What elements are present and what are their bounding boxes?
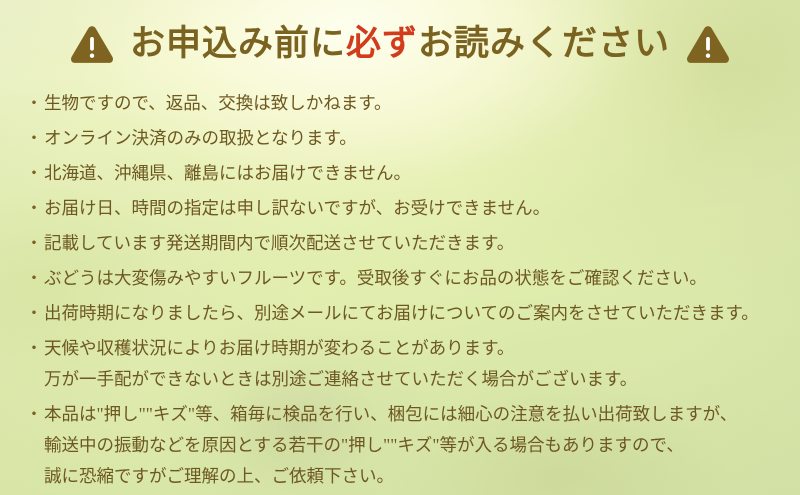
- bullet-icon: ・: [24, 158, 44, 189]
- list-item-line: 万が一手配ができないときは別途ご連絡させていただく場合がございます。: [44, 364, 788, 395]
- warning-triangle-icon: [686, 24, 730, 64]
- bullet-icon: ・: [24, 88, 44, 119]
- list-item: ・オンライン決済のみの取扱となります。: [24, 123, 788, 154]
- list-item-text: ぶどうは大変傷みやすいフルーツです。受取後すぐにお品の状態をご確認ください。: [44, 263, 788, 294]
- list-item-line: 誠に恐縮ですがご理解の上、ご依頼下さい。: [44, 461, 788, 492]
- list-item: ・本品は"押し""キズ"等、箱毎に検品を行い、梱包には細心の注意を払い出荷致しま…: [24, 399, 788, 492]
- list-item-text: オンライン決済のみの取扱となります。: [44, 123, 788, 154]
- list-item-text: 北海道、沖縄県、離島にはお届けできません。: [44, 158, 788, 189]
- banner-heading: お申込み前に必ずお読みください: [0, 24, 800, 64]
- list-item-line: 生物ですので、返品、交換は致しかねます。: [44, 88, 788, 119]
- list-item-line: 輸送中の振動などを原因とする若干の"押し""キズ"等が入る場合もありますので、: [44, 430, 788, 461]
- list-item-line: オンライン決済のみの取扱となります。: [44, 123, 788, 154]
- bullet-icon: ・: [24, 263, 44, 294]
- list-item-line: 本品は"押し""キズ"等、箱毎に検品を行い、梱包には細心の注意を払い出荷致します…: [44, 399, 788, 430]
- list-item-line: 出荷時期になりましたら、別途メールにてお届けについてのご案内をさせていただきます…: [44, 298, 788, 329]
- list-item-text: 生物ですので、返品、交換は致しかねます。: [44, 88, 788, 119]
- bullet-icon: ・: [24, 228, 44, 259]
- list-item-line: お届け日、時間の指定は申し訳ないですが、お受けできません。: [44, 193, 788, 224]
- list-item-text: 記載しています発送期間内で順次配送させていただきます。: [44, 228, 788, 259]
- list-item: ・北海道、沖縄県、離島にはお届けできません。: [24, 158, 788, 189]
- notice-list: ・生物ですので、返品、交換は致しかねます。・オンライン決済のみの取扱となります。…: [24, 88, 788, 495]
- list-item-text: 本品は"押し""キズ"等、箱毎に検品を行い、梱包には細心の注意を払い出荷致します…: [44, 399, 788, 492]
- list-item: ・お届け日、時間の指定は申し訳ないですが、お受けできません。: [24, 193, 788, 224]
- banner-content: お申込み前に必ずお読みください ・生物ですので、返品、交換は致しかねます。・オン…: [0, 0, 800, 495]
- list-item-text: お届け日、時間の指定は申し訳ないですが、お受けできません。: [44, 193, 788, 224]
- list-item-line: 記載しています発送期間内で順次配送させていただきます。: [44, 228, 788, 259]
- bullet-icon: ・: [24, 298, 44, 329]
- bullet-icon: ・: [24, 193, 44, 224]
- title-text-after: お読みください: [418, 24, 670, 63]
- important-notice-banner: お申込み前に必ずお読みください ・生物ですので、返品、交換は致しかねます。・オン…: [0, 0, 800, 495]
- list-item: ・ぶどうは大変傷みやすいフルーツです。受取後すぐにお品の状態をご確認ください。: [24, 263, 788, 294]
- title-text-accent: 必ず: [346, 24, 418, 63]
- list-item-line: ぶどうは大変傷みやすいフルーツです。受取後すぐにお品の状態をご確認ください。: [44, 263, 788, 294]
- bullet-icon: ・: [24, 123, 44, 154]
- list-item-text: 出荷時期になりましたら、別途メールにてお届けについてのご案内をさせていただきます…: [44, 298, 788, 329]
- title-text-before: お申込み前に: [130, 24, 346, 63]
- bullet-icon: ・: [24, 399, 44, 430]
- page-title: お申込み前に必ずお読みください: [130, 25, 670, 64]
- list-item: ・生物ですので、返品、交換は致しかねます。: [24, 88, 788, 119]
- list-item-line: 天候や収穫状況によりお届け時期が変わることがあります。: [44, 333, 788, 364]
- list-item-line: 北海道、沖縄県、離島にはお届けできません。: [44, 158, 788, 189]
- list-item-text: 天候や収穫状況によりお届け時期が変わることがあります。万が一手配ができないときは…: [44, 333, 788, 395]
- list-item: ・記載しています発送期間内で順次配送させていただきます。: [24, 228, 788, 259]
- bullet-icon: ・: [24, 333, 44, 364]
- warning-triangle-icon: [70, 24, 114, 64]
- list-item: ・天候や収穫状況によりお届け時期が変わることがあります。万が一手配ができないとき…: [24, 333, 788, 395]
- list-item: ・出荷時期になりましたら、別途メールにてお届けについてのご案内をさせていただきま…: [24, 298, 788, 329]
